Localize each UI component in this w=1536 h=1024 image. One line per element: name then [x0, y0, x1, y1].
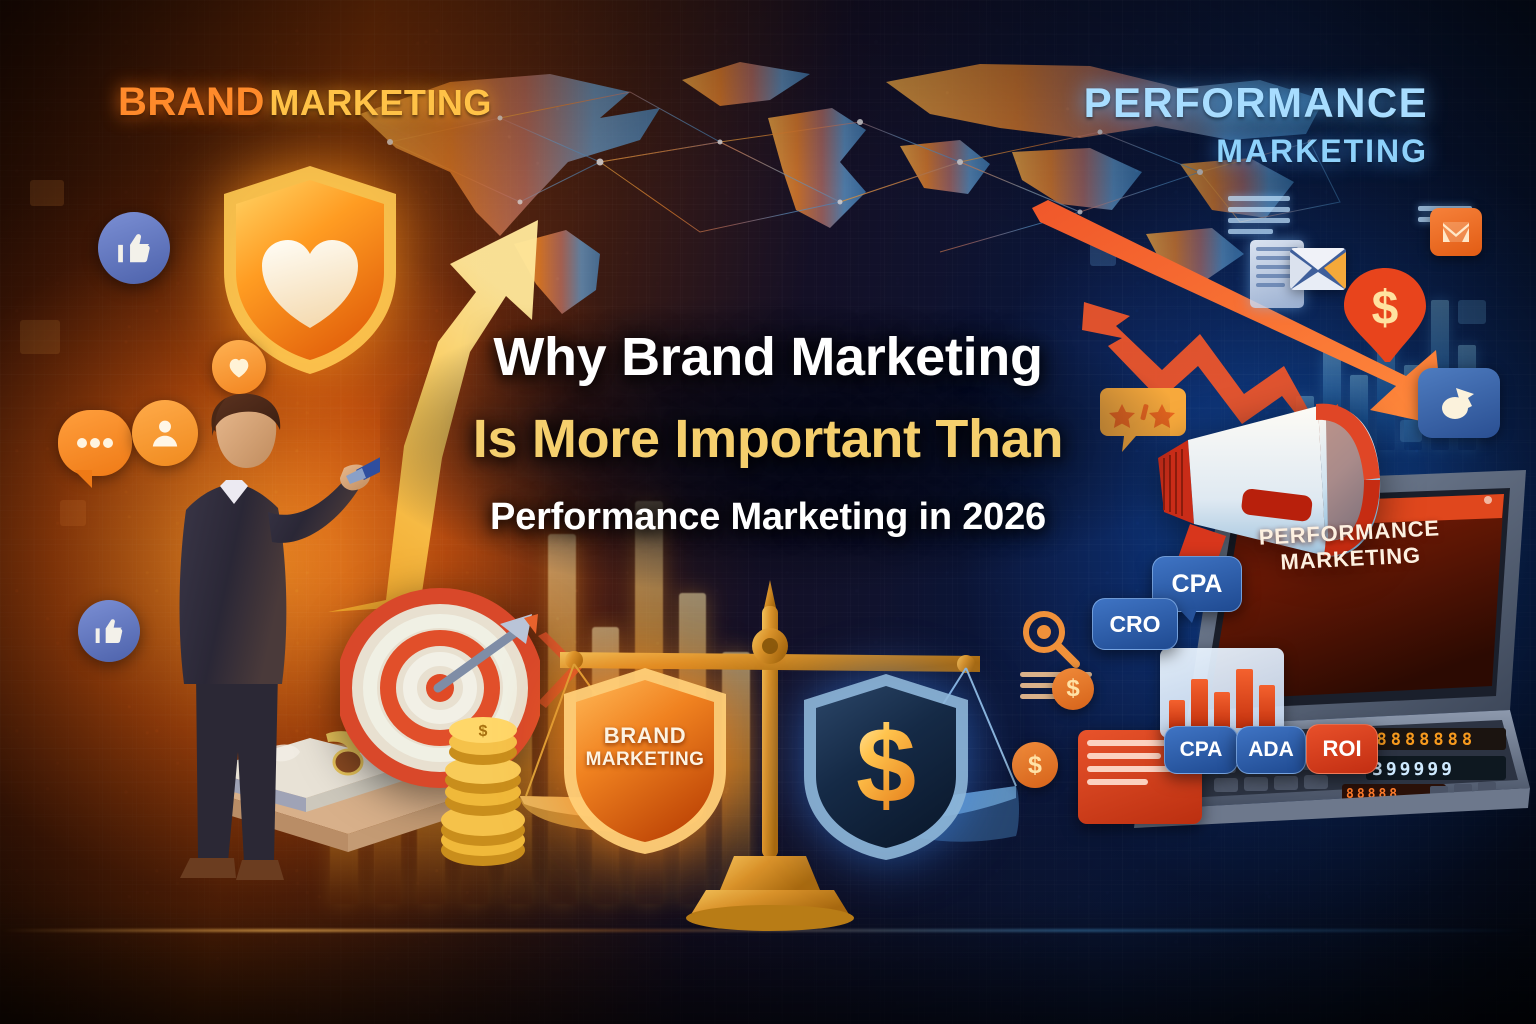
brand-shield-label-top: BRAND [560, 724, 730, 749]
marketing-banner: $ [0, 0, 1536, 1024]
brand-marketing-shield: BRAND MARKETING [560, 666, 730, 856]
brand-marketing-heading: BRAND MARKETING [118, 82, 492, 123]
laptop-screen-text: PERFORMANCE MARKETING [1249, 515, 1451, 578]
brand-shield-label-bottom: MARKETING [560, 749, 730, 770]
bar [1259, 685, 1275, 728]
badge-roi-label: ROI [1322, 736, 1361, 762]
mail-app-icon [1430, 208, 1482, 256]
performance-heading-word-1: PERFORMANCE [1084, 82, 1428, 125]
badge-ada-label: ADA [1248, 738, 1294, 762]
magnifier-icon [1020, 608, 1080, 668]
svg-text:$: $ [1372, 282, 1399, 335]
dollar-badge-symbol: $ [1028, 751, 1042, 780]
thumbs-up-icon [98, 212, 170, 284]
performance-heading-word-2: MARKETING [1084, 135, 1428, 168]
envelope-icon [1290, 248, 1346, 290]
bar [1236, 669, 1252, 728]
svg-text:399999: 399999 [1372, 759, 1455, 780]
dollar-badge-icon: $ [1012, 742, 1058, 788]
brand-heading-word-1: BRAND [118, 80, 265, 124]
badge-cro[interactable]: CRO [1092, 598, 1178, 650]
dollar-badge-icon: $ [1052, 668, 1094, 710]
dollar-shield: $ [800, 672, 972, 862]
heart-icon [212, 340, 266, 394]
badge-cpa-bottom-label: CPA [1180, 738, 1223, 762]
dollar-shield-symbol: $ [856, 704, 916, 825]
brand-heading-word-2: MARKETING [269, 82, 492, 123]
bar [1191, 679, 1207, 728]
brand-shield-label: BRAND MARKETING [560, 724, 730, 770]
bar-chart-card-icon [1160, 648, 1284, 738]
headline-scrim [380, 300, 1170, 590]
bubble-tail [1179, 609, 1197, 623]
click-cursor-icon [1418, 368, 1500, 438]
badge-cro-label: CRO [1109, 611, 1160, 638]
thumbs-up-icon [78, 600, 140, 662]
badge-cpa-bottom[interactable]: CPA [1164, 726, 1238, 774]
dollar-badge-symbol: $ [1066, 675, 1079, 703]
badge-roi[interactable]: ROI [1306, 724, 1378, 774]
badge-cpa-top-label: CPA [1172, 570, 1223, 599]
bar [1169, 700, 1185, 728]
performance-marketing-heading: PERFORMANCE MARKETING [1084, 82, 1428, 167]
businessman-with-dart-icon [150, 392, 380, 892]
svg-text:$: $ [479, 723, 488, 740]
gold-coins-icon: $ [438, 690, 528, 880]
dollar-map-pin-icon: $ [1344, 268, 1426, 362]
text-lines-icon [1228, 196, 1290, 240]
chat-bubble-icon [58, 410, 132, 476]
badge-ada[interactable]: ADA [1236, 726, 1306, 774]
bar [1214, 692, 1230, 728]
